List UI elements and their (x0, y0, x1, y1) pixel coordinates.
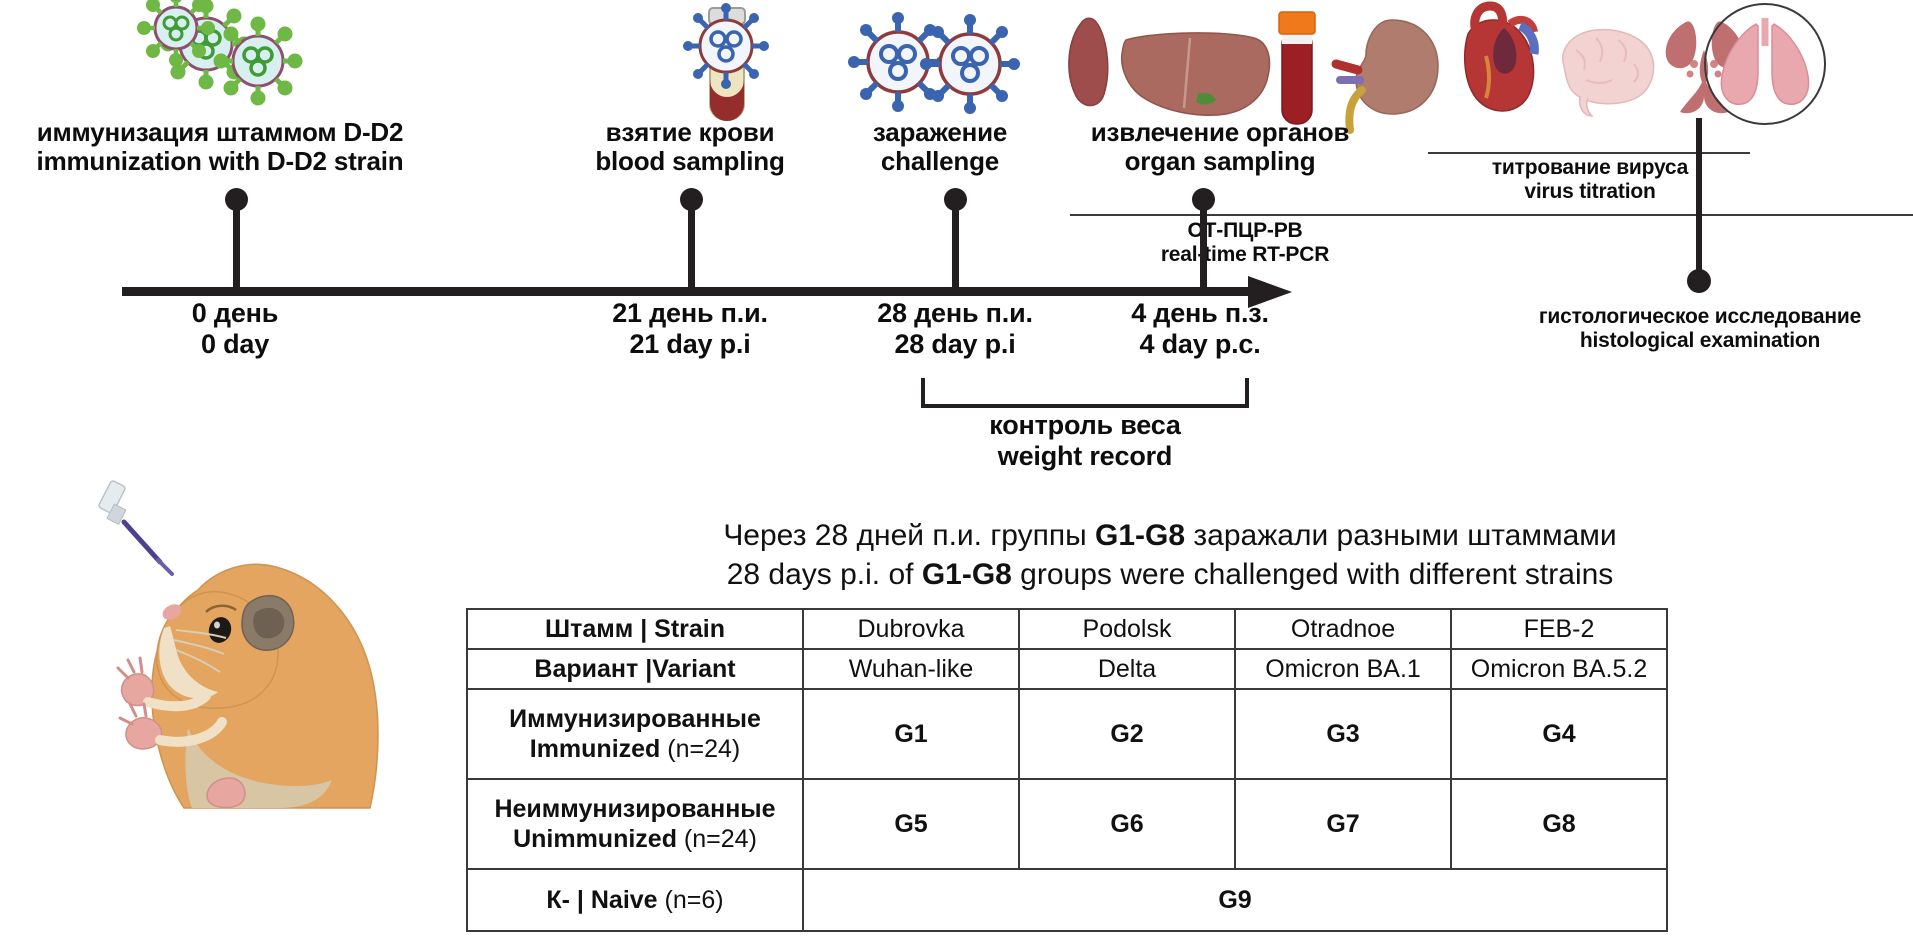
event-3-ru: извлечение органов (1055, 118, 1385, 147)
assay-0-ru: титрование вируса (1430, 156, 1750, 180)
assay-histology-label: гистологическое исследование histologica… (1490, 305, 1910, 352)
hamster-with-swab-illustration (80, 478, 390, 808)
cell-variant-3: Omicron BA.5.2 (1451, 649, 1667, 689)
cell-group-g2: G2 (1019, 689, 1235, 779)
cell-variant-0: Wuhan-like (803, 649, 1019, 689)
event-1-day-label: 21 день п.и. 21 day p.i (590, 298, 790, 359)
histology-stem (1696, 118, 1702, 278)
caption-en-pre: 28 days p.i. of (727, 558, 922, 591)
cell-strain-1: Podolsk (1019, 609, 1235, 649)
event-2-day-ru: 28 день п.и. (855, 298, 1055, 329)
cell-group-g8: G8 (1451, 779, 1667, 869)
row-head-unimmunized: Неиммунизированные Unimmunized (n=24) (467, 779, 803, 869)
caption-ru-bold: G1-G8 (1095, 519, 1185, 552)
kidney-icon (1336, 20, 1438, 130)
timeline-event-1-label: взятие крови blood sampling (575, 118, 805, 177)
table-row-unimmunized: Неиммунизированные Unimmunized (n=24) G5… (467, 779, 1667, 869)
row-head-immunized-ru: Иммунизированные (470, 704, 800, 734)
caption-en-bold: G1-G8 (922, 558, 1012, 591)
caption-line-ru: Через 28 дней п.и. группы G1-G8 заражали… (470, 516, 1870, 555)
cell-variant-1: Delta (1019, 649, 1235, 689)
assay-1-en: real-time RT-PCR (1090, 243, 1400, 267)
cell-variant-2: Omicron BA.1 (1235, 649, 1451, 689)
row-head-unimmunized-ru: Неиммунизированные (470, 794, 800, 824)
titration-rule-bottom (1070, 214, 1913, 216)
event-0-en: immunization with D-D2 strain (30, 147, 410, 176)
event-1-ru: взятие крови (575, 118, 805, 147)
assay-1-ru: ОТ-ПЦР-РВ (1090, 219, 1400, 243)
event-2-day-en: 28 day p.i (855, 329, 1055, 360)
event-1-day-en: 21 day p.i (590, 329, 790, 360)
cell-strain-2: Otradnoe (1235, 609, 1451, 649)
timeline-event-0-label: иммунизация штаммом D-D2 immunization wi… (30, 118, 410, 177)
row-head-naive: К- | Naive (n=6) (467, 869, 803, 931)
brain-icon (1563, 30, 1654, 116)
assay-2-en: histological examination (1490, 329, 1910, 353)
event-3-dot (1192, 188, 1215, 211)
timeline-event-2-label: заражение challenge (840, 118, 1040, 177)
cell-group-g4: G4 (1451, 689, 1667, 779)
event-0-day-label: 0 день 0 day (135, 298, 335, 359)
assay-2-ru: гистологическое исследование (1490, 305, 1910, 329)
groups-table: Штамм | Strain Dubrovka Podolsk Otradnoe… (466, 608, 1668, 932)
cell-group-g9: G9 (803, 869, 1667, 931)
virus-green-cluster-icon (146, 6, 306, 116)
cell-group-g7: G7 (1235, 779, 1451, 869)
spleen-icon (1069, 18, 1108, 105)
row-head-unimmunized-en: Unimmunized (n=24) (470, 824, 800, 854)
blood-tube-orange-icon (1279, 12, 1315, 124)
weight-record-label: контроль веса weight record (900, 410, 1270, 471)
event-1-day-ru: 21 день п.и. (590, 298, 790, 329)
assay-0-en: virus titration (1430, 180, 1750, 204)
event-1-en: blood sampling (575, 147, 805, 176)
event-0-day-ru: 0 день (135, 298, 335, 329)
table-row-immunized: Иммунизированные Immunized (n=24) G1 G2 … (467, 689, 1667, 779)
cell-group-g5: G5 (803, 779, 1019, 869)
event-0-day-en: 0 day (135, 329, 335, 360)
assay-rtpcr-label: ОТ-ПЦР-РВ real-time RT-PCR (1090, 219, 1400, 266)
weight-record-en: weight record (900, 441, 1270, 472)
event-0-dot (225, 188, 248, 211)
event-3-day-en: 4 day p.c. (1100, 329, 1300, 360)
nasal-swab-icon (98, 480, 172, 574)
caption-ru-pre: Через 28 дней п.и. группы (723, 519, 1095, 552)
timeline-event-3-label: извлечение органов organ sampling (1055, 118, 1385, 177)
lungs-circled-icon (1690, 2, 1840, 132)
cell-group-g6: G6 (1019, 779, 1235, 869)
cell-group-g1: G1 (803, 689, 1019, 779)
blood-tube-icon (680, 4, 795, 122)
cell-group-g3: G3 (1235, 689, 1451, 779)
event-2-ru: заражение (840, 118, 1040, 147)
event-1-dot (680, 188, 703, 211)
liver-icon (1122, 33, 1270, 115)
event-2-dot (944, 188, 967, 211)
row-head-immunized-en: Immunized (n=24) (470, 734, 800, 764)
caption-ru-post: заражали разными штаммами (1185, 519, 1617, 552)
cell-strain-0: Dubrovka (803, 609, 1019, 649)
event-0-ru: иммунизация штаммом D-D2 (30, 118, 410, 147)
virus-blue-pair-icon (846, 6, 1026, 116)
event-3-en: organ sampling (1055, 147, 1385, 176)
table-row-strain: Штамм | Strain Dubrovka Podolsk Otradnoe… (467, 609, 1667, 649)
table-row-naive: К- | Naive (n=6) G9 (467, 869, 1667, 931)
assay-titration-label: титрование вируса virus titration (1430, 156, 1750, 203)
table-caption: Через 28 дней п.и. группы G1-G8 заражали… (470, 516, 1870, 594)
row-head-immunized: Иммунизированные Immunized (n=24) (467, 689, 803, 779)
event-3-day-ru: 4 день п.з. (1100, 298, 1300, 329)
caption-line-en: 28 days p.i. of G1-G8 groups were challe… (470, 555, 1870, 594)
organs-icon (1060, 2, 1720, 120)
event-3-day-label: 4 день п.з. 4 day p.c. (1100, 298, 1300, 359)
cell-strain-3: FEB-2 (1451, 609, 1667, 649)
caption-en-post: groups were challenged with different st… (1012, 558, 1613, 591)
table-row-variant: Вариант |Variant Wuhan-like Delta Omicro… (467, 649, 1667, 689)
heart-icon (1465, 6, 1535, 111)
row-head-variant: Вариант |Variant (467, 649, 803, 689)
event-2-en: challenge (840, 147, 1040, 176)
event-2-day-label: 28 день п.и. 28 day p.i (855, 298, 1055, 359)
weight-record-ru: контроль веса (900, 410, 1270, 441)
histology-dot (1687, 269, 1711, 293)
weight-record-bracket (920, 378, 1250, 412)
row-head-strain: Штамм | Strain (467, 609, 803, 649)
